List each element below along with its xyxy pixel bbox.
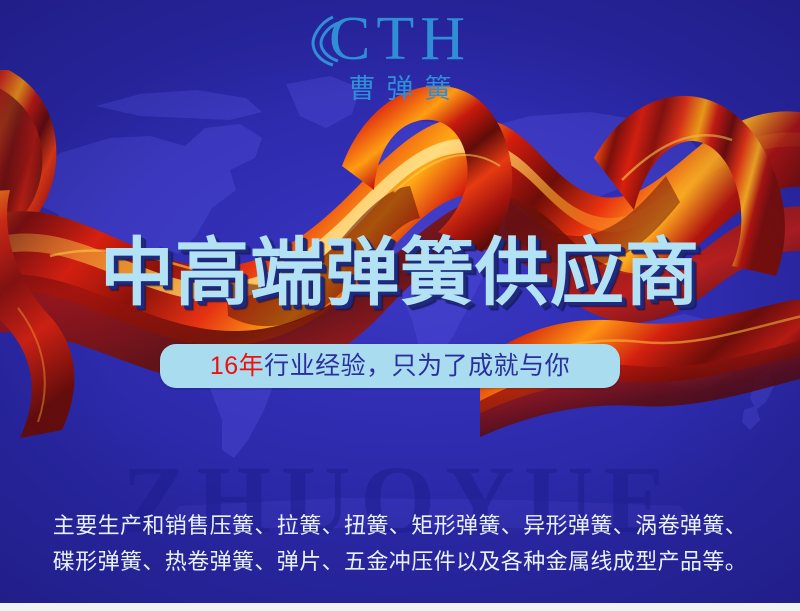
- bottom-strip: [0, 603, 800, 611]
- logo-mark-text: CTH: [329, 5, 471, 73]
- subtitle-years: 16年: [210, 352, 264, 380]
- logo-arc-icon: [309, 13, 339, 68]
- description-line-2: 碟形弹簧、热卷弹簧、弹片、五金冲压件以及各种金属线成型产品等。: [0, 544, 800, 580]
- brand-logo: CTH 曹弹簧: [0, 8, 800, 103]
- description-block: 主要生产和销售压簧、拉簧、扭簧、矩形弹簧、异形弹簧、涡卷弹簧、 碟形弹簧、热卷弹…: [0, 508, 800, 580]
- subtitle-rest: 行业经验，只为了成就与你: [264, 352, 570, 380]
- logo-chinese-name: 曹弹簧: [0, 76, 800, 103]
- logo-mark: CTH: [329, 8, 471, 70]
- description-line-1: 主要生产和销售压簧、拉簧、扭簧、矩形弹簧、异形弹簧、涡卷弹簧、: [0, 508, 800, 544]
- subtitle-text: 16年行业经验，只为了成就与你: [210, 354, 570, 379]
- headline: 中高端弹簧供应商: [0, 236, 800, 310]
- subtitle-pill: 16年行业经验，只为了成就与你: [160, 344, 620, 388]
- promo-banner: CTH 曹弹簧 中高端弹簧供应商 16年行业经验，只为了成就与你 ZHUOYUE…: [0, 0, 800, 611]
